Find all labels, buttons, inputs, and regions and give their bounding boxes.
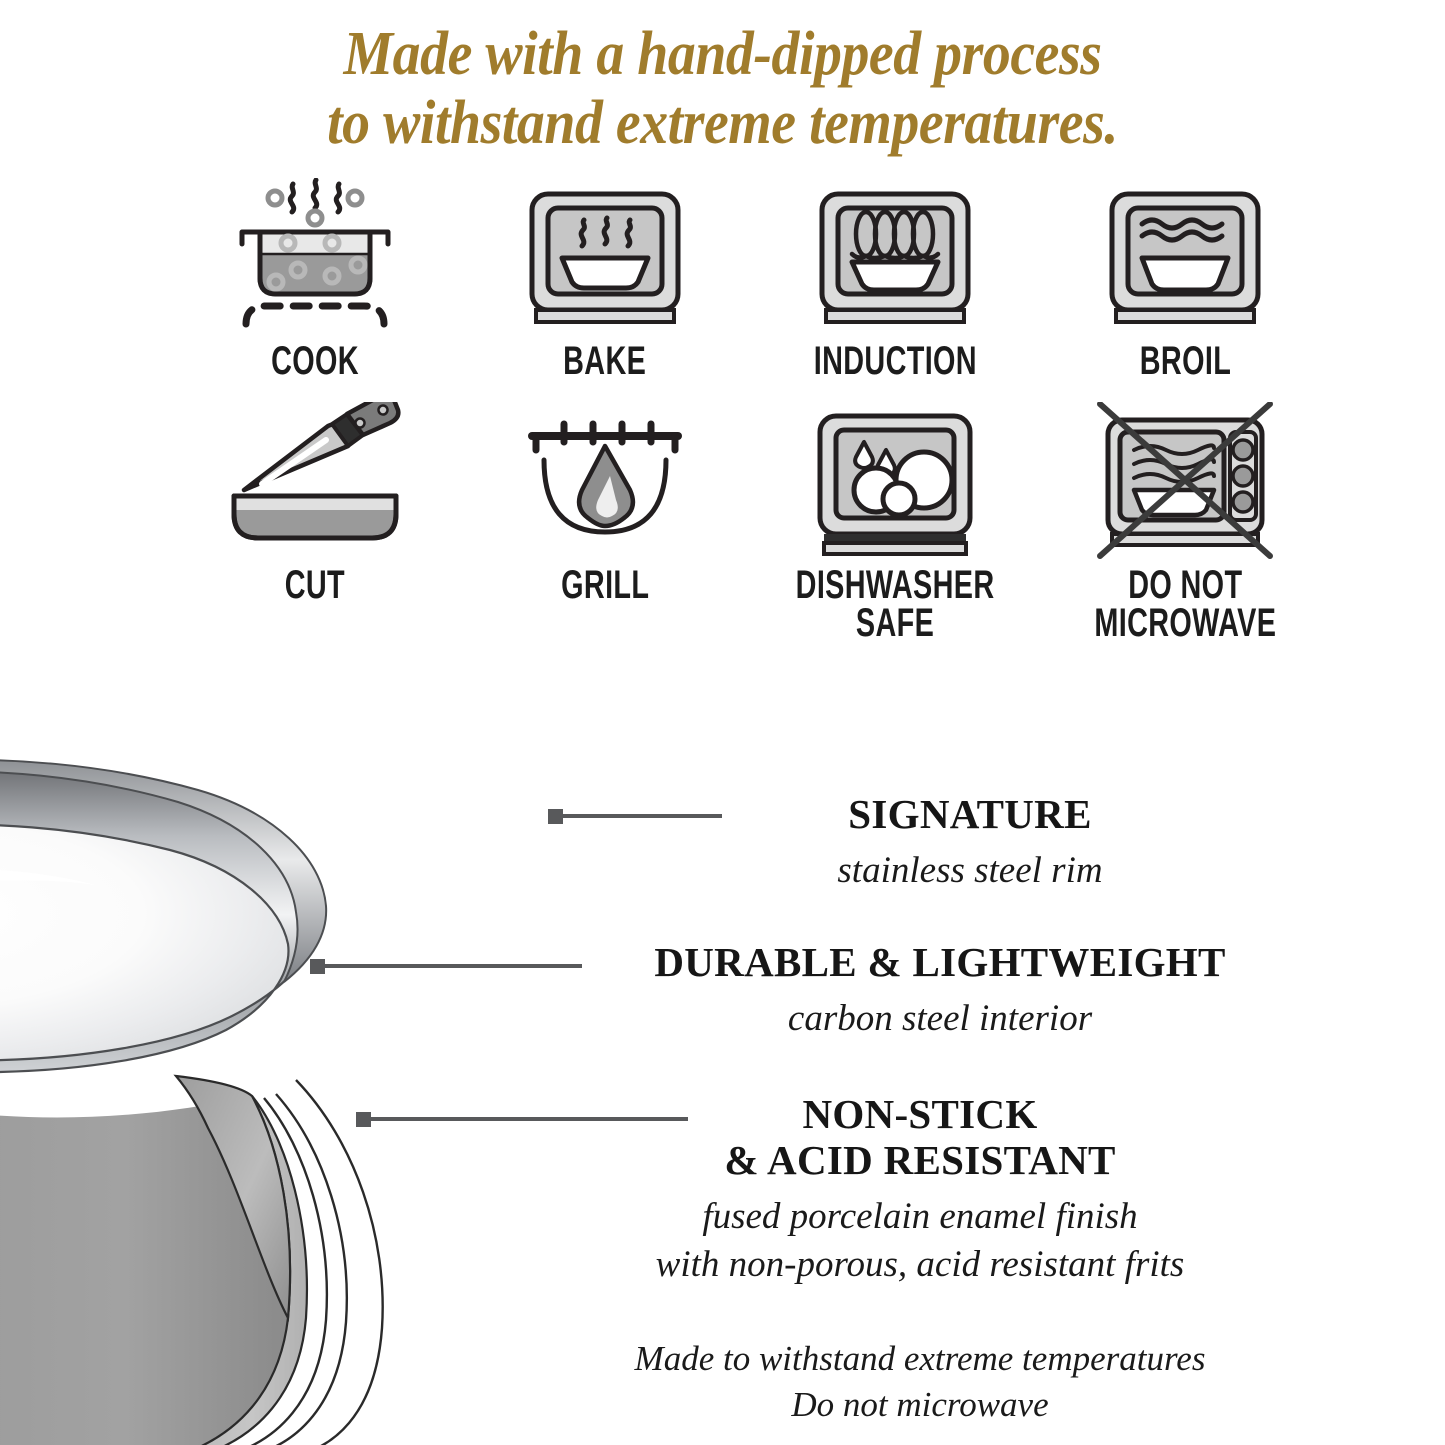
icon-label-cut: CUT bbox=[285, 566, 345, 604]
feature-icon-grid: COOK bbox=[170, 178, 1330, 642]
grill-flame-icon bbox=[510, 402, 700, 562]
knife-dish-icon bbox=[220, 402, 410, 562]
icon-label-broil: BROIL bbox=[1139, 342, 1230, 380]
footnote-line-2: Do not microwave bbox=[500, 1382, 1340, 1428]
icon-row-2: CUT bbox=[170, 402, 1330, 642]
footnote-line-1: Made to withstand extreme temperatures bbox=[500, 1336, 1340, 1382]
icon-label-grill: GRILL bbox=[561, 566, 649, 604]
oven-coil-icon bbox=[800, 178, 990, 338]
oven-wave-icon bbox=[1090, 178, 1280, 338]
headline-line-2: to withstand extreme temperatures. bbox=[72, 89, 1373, 158]
icon-label-dishwasher: DISHWASHER SAFE bbox=[796, 566, 995, 642]
icon-cell-cook: COOK bbox=[170, 178, 460, 380]
icon-cell-dishwasher: DISHWASHER SAFE bbox=[750, 402, 1040, 642]
icon-label-microwave: DO NOT MICROWAVE bbox=[1094, 566, 1276, 642]
callout-signature: SIGNATURE stainless steel rim bbox=[600, 792, 1340, 894]
icon-label-bake: BAKE bbox=[563, 342, 646, 380]
icon-label-induction: INDUCTION bbox=[813, 342, 976, 380]
callout-nonstick-title-1: NON-STICK bbox=[500, 1092, 1340, 1138]
callout-signature-subtitle: stainless steel rim bbox=[600, 848, 1340, 894]
footnote: Made to withstand extreme temperatures D… bbox=[500, 1336, 1340, 1427]
icon-cell-induction: INDUCTION bbox=[750, 178, 1040, 380]
icon-row-1: COOK bbox=[170, 178, 1330, 380]
callout-durable: DURABLE & LIGHTWEIGHT carbon steel inter… bbox=[540, 940, 1340, 1042]
callout-durable-subtitle: carbon steel interior bbox=[540, 996, 1340, 1042]
headline-line-1: Made with a hand-dipped process bbox=[72, 20, 1373, 89]
callout-durable-title: DURABLE & LIGHTWEIGHT bbox=[540, 940, 1340, 986]
callout-nonstick: NON-STICK & ACID RESISTANT fused porcela… bbox=[500, 1092, 1340, 1288]
pot-boiling-icon bbox=[220, 178, 410, 338]
icon-cell-microwave: DO NOT MICROWAVE bbox=[1040, 402, 1330, 642]
oven-steam-icon bbox=[510, 178, 700, 338]
callout-nonstick-subtitle-1: fused porcelain enamel finish bbox=[500, 1194, 1340, 1240]
icon-label-cook: COOK bbox=[271, 342, 359, 380]
callout-signature-title: SIGNATURE bbox=[600, 792, 1340, 838]
page-title: Made with a hand-dipped process to withs… bbox=[72, 20, 1373, 159]
icon-cell-cut: CUT bbox=[170, 402, 460, 642]
dishwasher-icon bbox=[800, 402, 990, 562]
callout-nonstick-title-2: & ACID RESISTANT bbox=[500, 1138, 1340, 1184]
icon-cell-broil: BROIL bbox=[1040, 178, 1330, 380]
icon-cell-bake: BAKE bbox=[460, 178, 750, 380]
icon-cell-grill: GRILL bbox=[460, 402, 750, 642]
microwave-crossed-icon bbox=[1090, 402, 1280, 562]
product-infographic: Made with a hand-dipped process to withs… bbox=[0, 0, 1445, 1445]
callout-nonstick-subtitle-2: with non-porous, acid resistant frits bbox=[500, 1242, 1340, 1288]
